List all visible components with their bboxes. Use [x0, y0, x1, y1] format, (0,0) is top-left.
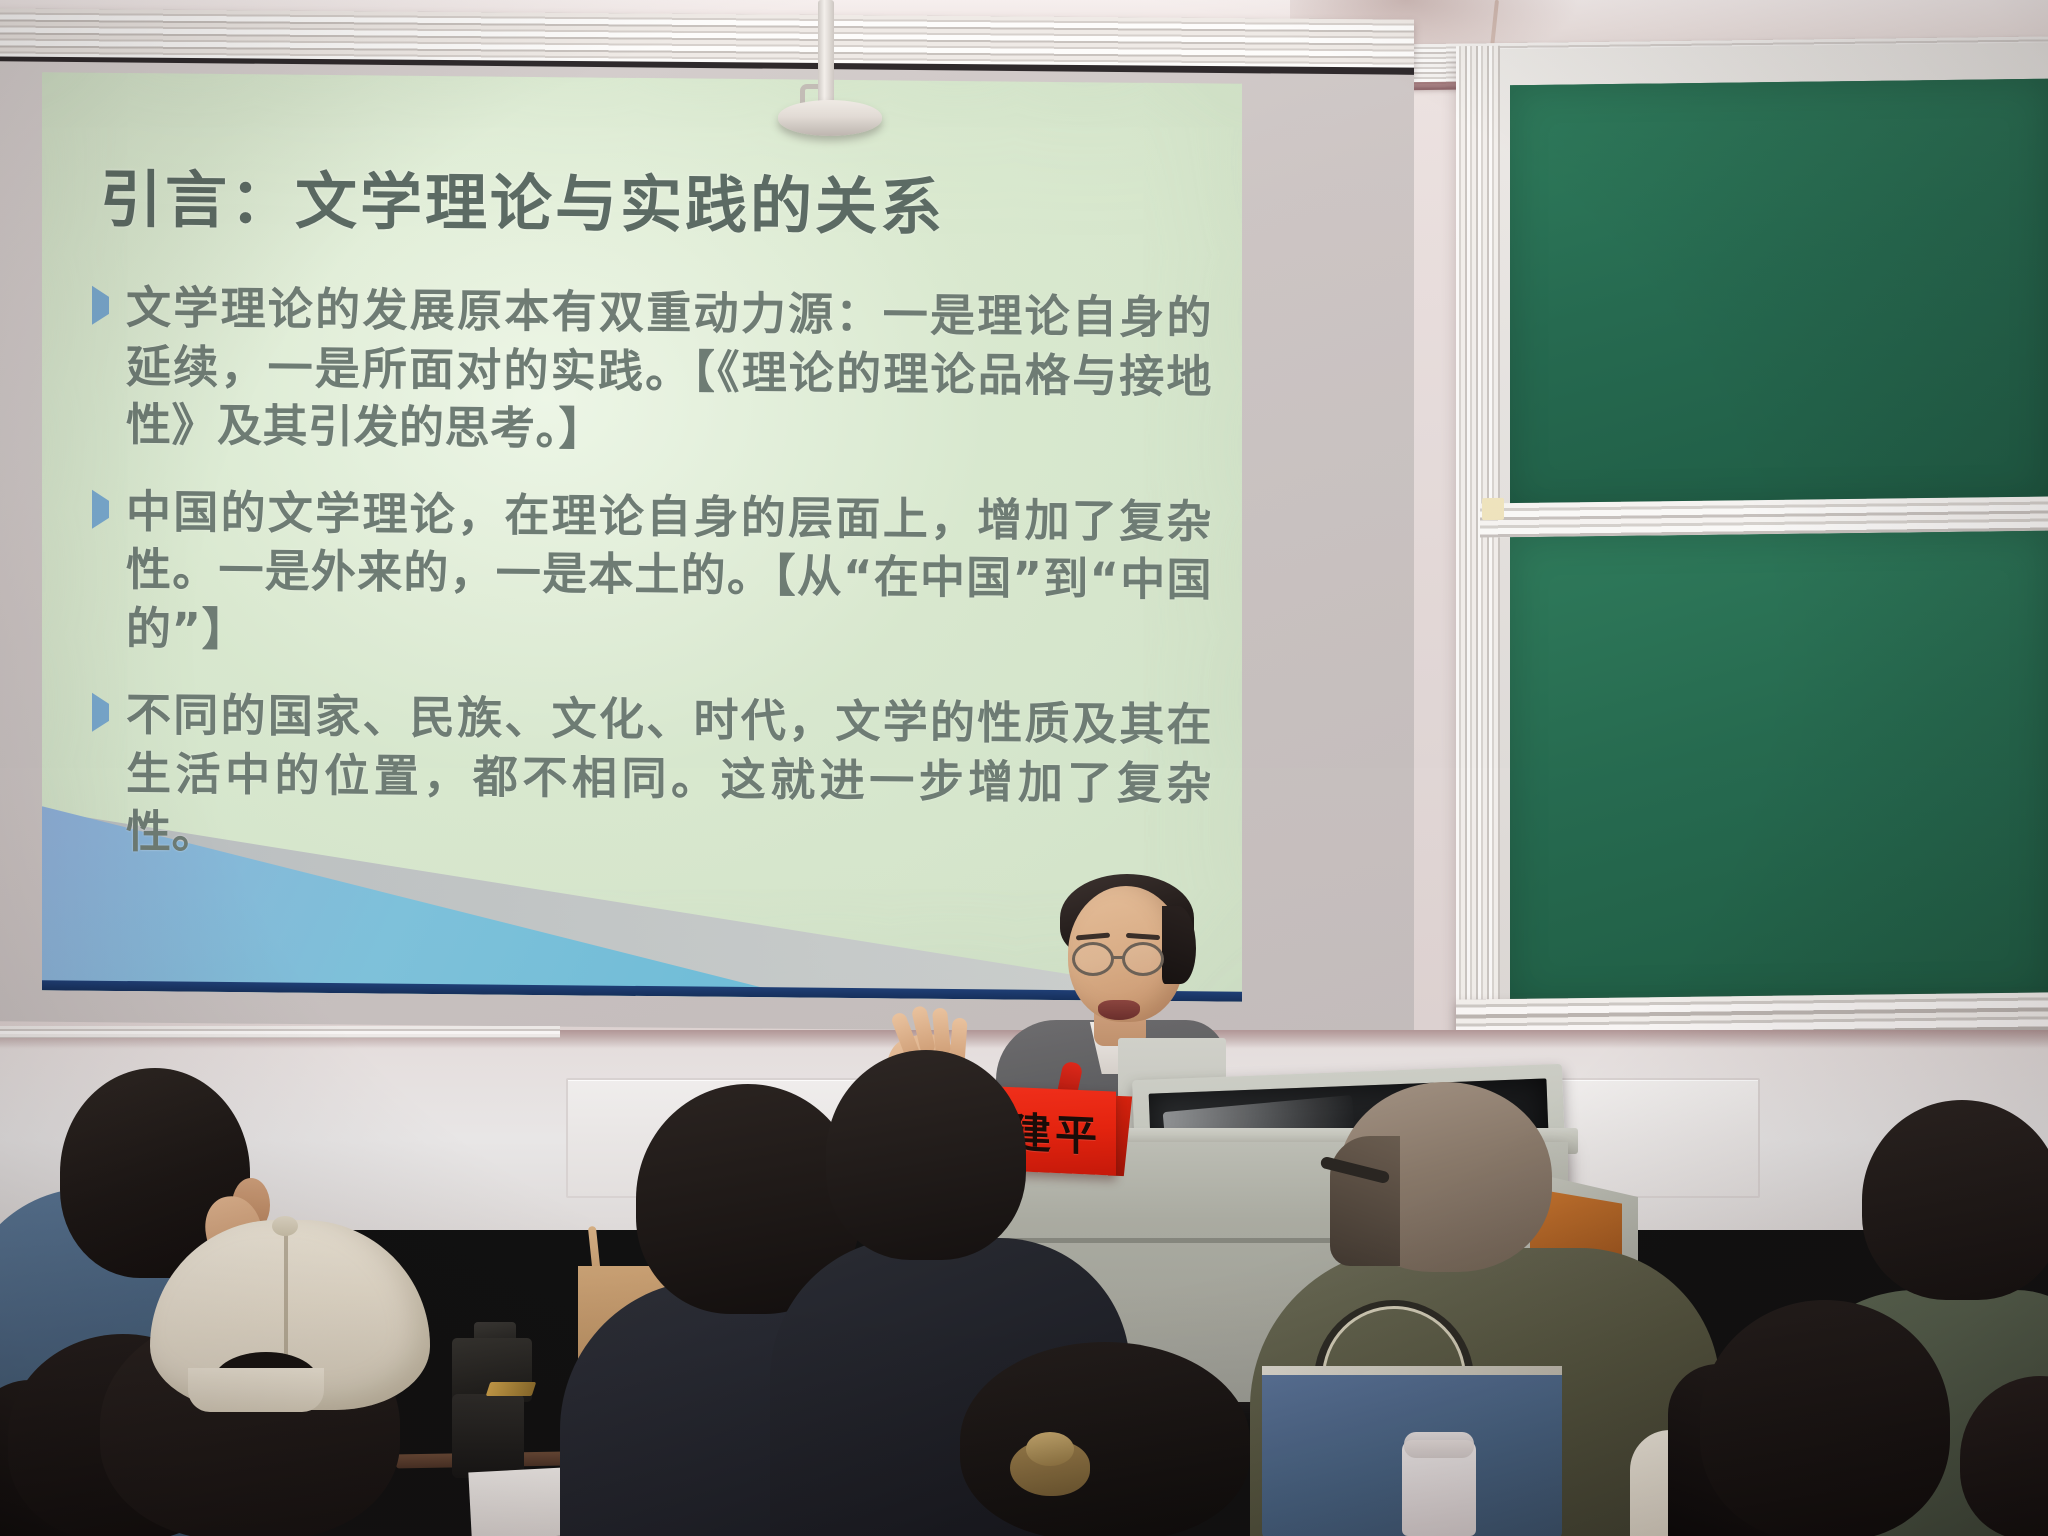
speaker-mouth — [1098, 1000, 1140, 1020]
hair-tie-highlight — [1026, 1432, 1074, 1466]
audience-member-head — [1862, 1100, 2048, 1300]
chalkboard-side-rail — [1456, 46, 1500, 1049]
slide-bullet-text: 不同的国家、民族、文化、时代，文学的性质及其在生活中的位置，都不相同。这就进一步… — [126, 686, 1212, 872]
triangle-bullet-icon — [92, 704, 120, 722]
camera-badge — [486, 1382, 537, 1396]
audience-member-head — [826, 1050, 1026, 1260]
chalkboard-panel-lower — [1510, 531, 2048, 1006]
water-bottle-cap — [1404, 1432, 1474, 1458]
projector-mount-disc-icon — [778, 100, 882, 136]
chalkboard-panel-upper — [1510, 79, 2048, 510]
triangle-bullet-icon — [92, 500, 120, 518]
glasses-lens-right-icon — [1122, 942, 1164, 976]
camera-lens-icon — [452, 1394, 524, 1478]
audience-member-hair — [1330, 1136, 1400, 1266]
slide-bullet-item: 文学理论的发展原本有双重动力源：一是理论自身的延续，一是所面对的实践。【《理论的… — [92, 279, 1212, 465]
baseball-cap-strap — [188, 1368, 324, 1412]
presentation-slide: 引言：文学理论与实践的关系 文学理论的发展原本有双重动力源：一是理论自身的延续，… — [42, 72, 1242, 1002]
wall-rail-strip — [0, 1026, 560, 1038]
glasses-lens-left-icon — [1072, 942, 1114, 976]
triangle-bullet-icon — [92, 297, 120, 315]
audience-member-head — [1700, 1300, 1950, 1536]
slide-bullet-list: 文学理论的发展原本有双重动力源：一是理论自身的延续，一是所面对的实践。【《理论的… — [92, 279, 1212, 900]
chalk-piece — [1482, 498, 1504, 520]
tote-bag-trim — [1262, 1366, 1562, 1375]
slide-bullet-item: 中国的文学理论，在理论自身的层面上，增加了复杂性。一是外来的，一是本土的。【从“… — [92, 482, 1212, 668]
slide-title: 引言：文学理论与实践的关系 — [100, 165, 1170, 245]
lecture-hall-photo: 引言：文学理论与实践的关系 文学理论的发展原本有双重动力源：一是理论自身的延续，… — [0, 0, 2048, 1536]
glasses-bridge-icon — [1113, 956, 1125, 959]
audience-member-head — [960, 1342, 1250, 1536]
slide-bullet-text: 中国的文学理论，在理论自身的层面上，增加了复杂性。一是外来的，一是本土的。【从“… — [126, 483, 1212, 669]
slide-bullet-text: 文学理论的发展原本有双重动力源：一是理论自身的延续，一是所面对的实践。【《理论的… — [126, 279, 1212, 465]
projector-mount-pole — [818, 0, 834, 108]
slide-bullet-item: 不同的国家、民族、文化、时代，文学的性质及其在生活中的位置，都不相同。这就进一步… — [92, 686, 1212, 872]
baseball-cap-button — [272, 1216, 298, 1236]
